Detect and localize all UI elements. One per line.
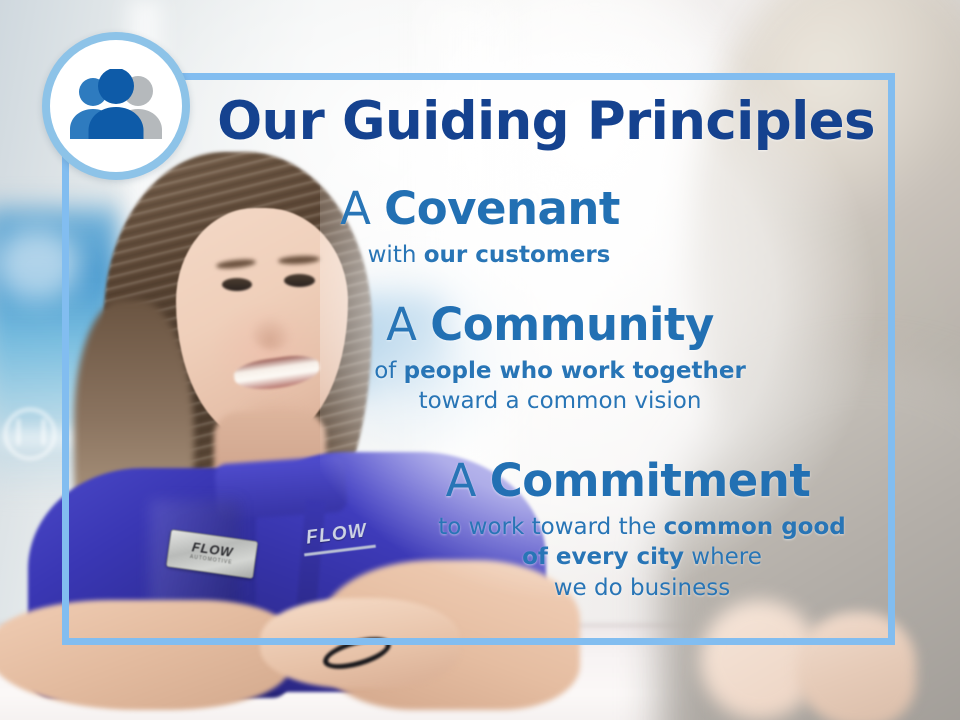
employee-nose: [252, 316, 292, 350]
page-title: Our Guiding Principles: [206, 94, 886, 149]
principle-3-keyword: Commitment: [490, 454, 811, 507]
principle-1-body-bold: our customers: [424, 242, 611, 268]
employee-arm-left: [0, 600, 290, 710]
people-group-badge: [42, 32, 190, 180]
principle-1-keyword: Covenant: [384, 182, 620, 235]
principle-1-title: A Covenant: [280, 186, 680, 231]
principle-commitment: A Commitment to work toward the common g…: [398, 458, 858, 603]
principle-2-keyword: Community: [430, 298, 714, 351]
principle-1-article: A: [340, 182, 384, 235]
principle-covenant: A Covenant with our customers: [280, 186, 680, 270]
people-group-icon: [64, 69, 168, 143]
principle-3-body-tail: where: [684, 544, 762, 570]
principle-2-body-lead: of: [374, 358, 403, 384]
principle-3-body: to work toward the common good of every …: [398, 512, 858, 603]
principle-2-body-bold: people who work together: [404, 358, 746, 384]
principle-2-body-line2: toward a common vision: [419, 388, 702, 414]
principle-3-title: A Commitment: [398, 458, 858, 503]
employee-eye-right: [284, 274, 315, 287]
principle-3-body-lead: to work toward the: [438, 514, 663, 540]
principle-1-body: with our customers: [280, 240, 680, 270]
principle-2-article: A: [386, 298, 430, 351]
employee-eye-left: [222, 278, 252, 291]
guiding-principles-banner: FLOW FLOW AUTOMOTIVE: [0, 0, 960, 720]
principle-2-title: A Community: [320, 302, 780, 347]
principle-community: A Community of people who work togethert…: [320, 302, 780, 417]
principle-3-body-line2: we do business: [554, 575, 731, 601]
principle-2-body: of people who work togethertoward a comm…: [320, 356, 780, 417]
principle-3-article: A: [446, 454, 490, 507]
principle-1-body-lead: with: [368, 242, 424, 268]
